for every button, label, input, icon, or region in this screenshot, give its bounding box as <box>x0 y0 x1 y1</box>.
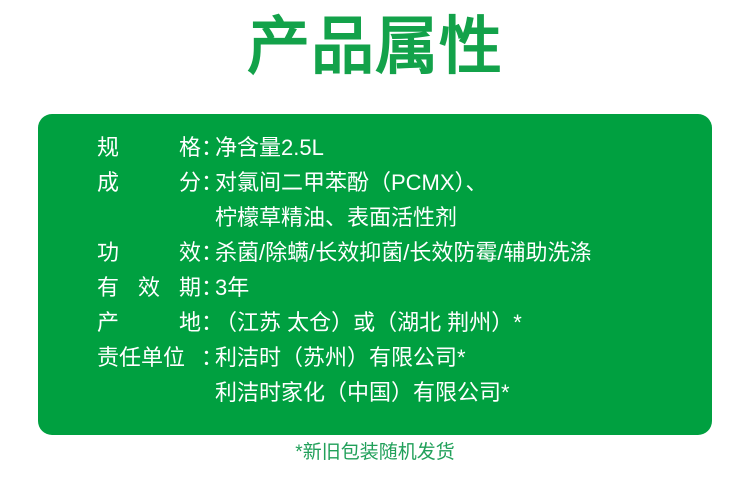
attribute-colon-responsible-company: ： <box>201 340 215 375</box>
attributes-panel: 规格 ： 净含量2.5L 成分 ： 对氯间二甲苯酚（PCMX）、 柠檬草精油、表… <box>38 114 712 435</box>
attribute-value-responsible-company: 利洁时（苏州）有限公司* <box>215 340 698 375</box>
attribute-row-ingredients-line2: 柠檬草精油、表面活性剂 <box>97 200 698 235</box>
attribute-colon-ingredients: ： <box>201 165 215 200</box>
attribute-label-shelf-life: 有效期 <box>97 270 201 305</box>
attribute-row-responsible-company-line2: 利洁时家化（中国）有限公司* <box>97 375 698 410</box>
attribute-label-spec: 规格 <box>97 130 201 165</box>
attribute-label-ingredients: 成分 <box>97 165 201 200</box>
packaging-footnote: *新旧包装随机发货 <box>0 440 750 466</box>
attribute-value-spec: 净含量2.5L <box>215 130 698 165</box>
attribute-colon-spec: ： <box>201 130 215 165</box>
attribute-row-origin: 产地 ： （江苏 太仓）或（湖北 荆州）* <box>97 305 698 340</box>
attribute-row-ingredients: 成分 ： 对氯间二甲苯酚（PCMX）、 <box>97 165 698 200</box>
attribute-row-spec: 规格 ： 净含量2.5L <box>97 130 698 165</box>
attribute-value-ingredients: 对氯间二甲苯酚（PCMX）、 <box>215 165 698 200</box>
product-attributes-page: 产品属性 规格 ： 净含量2.5L 成分 ： 对氯间二甲苯酚（PCMX）、 柠檬… <box>0 0 750 478</box>
attribute-colon-efficacy: ： <box>201 235 215 270</box>
page-title: 产品属性 <box>247 8 503 86</box>
attribute-row-responsible-company: 责任单位 ： 利洁时（苏州）有限公司* <box>97 340 698 375</box>
attribute-row-efficacy: 功效 ： 杀菌/除螨/长效抑菌/长效防霉/辅助洗涤 <box>97 235 698 270</box>
attribute-value-shelf-life: 3年 <box>215 270 698 305</box>
attribute-value-responsible-company-line2: 利洁时家化（中国）有限公司* <box>215 375 698 410</box>
attribute-value-ingredients-line2: 柠檬草精油、表面活性剂 <box>215 200 698 235</box>
attributes-list: 规格 ： 净含量2.5L 成分 ： 对氯间二甲苯酚（PCMX）、 柠檬草精油、表… <box>97 130 698 410</box>
attribute-label-origin: 产地 <box>97 305 201 340</box>
attribute-colon-shelf-life: ： <box>201 270 215 305</box>
attribute-value-efficacy: 杀菌/除螨/长效抑菌/长效防霉/辅助洗涤 <box>215 235 698 270</box>
attribute-colon-origin: ： <box>201 305 215 340</box>
attribute-value-origin: （江苏 太仓）或（湖北 荆州）* <box>215 305 698 340</box>
attribute-label-responsible-company: 责任单位 <box>97 340 201 375</box>
attribute-row-shelf-life: 有效期 ： 3年 <box>97 270 698 305</box>
attribute-label-efficacy: 功效 <box>97 235 201 270</box>
page-title-container: 产品属性 <box>0 8 750 86</box>
